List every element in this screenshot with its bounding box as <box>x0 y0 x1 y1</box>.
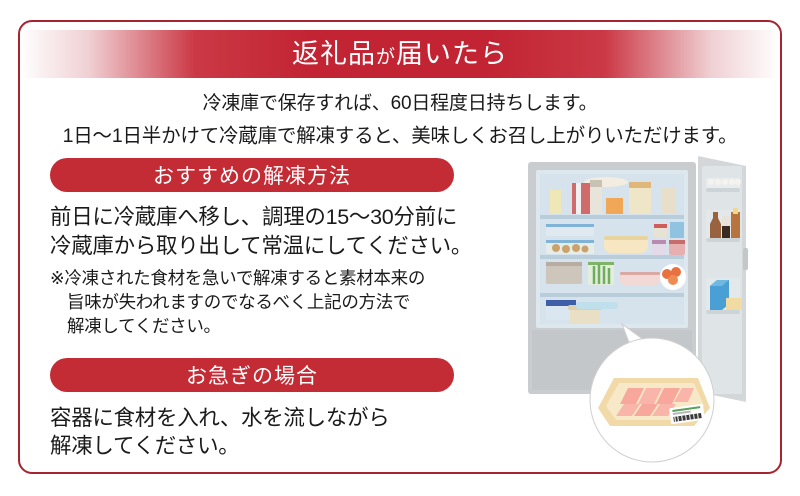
body-line: 容器に食材を入れ、水を流しながら <box>50 404 490 433</box>
intro-line-1: 冷凍庫で保存すれば、60日程度日持ちします。 <box>20 88 780 115</box>
section-header-label: おすすめの解凍方法 <box>153 160 351 190</box>
note-line: 解凍してください。 <box>50 314 490 338</box>
note-line: 旨味が失われますのでなるべく上記の方法で <box>50 290 490 314</box>
section-header-recommended-thawing: おすすめの解凍方法 <box>50 158 454 192</box>
meat-tray-callout <box>570 322 740 472</box>
section-header-label: お急ぎの場合 <box>186 360 318 390</box>
illustration-area <box>510 152 782 472</box>
page-title-particle: が <box>376 47 396 68</box>
body-line: 前日に冷蔵庫へ移し、調理の15～30分前に <box>50 203 490 232</box>
meat-tray-icon <box>598 378 710 426</box>
section-2-body: 容器に食材を入れ、水を流しながら 解凍してください。 <box>50 404 490 461</box>
intro-line-2: 1日～1日半かけて冷蔵庫で解凍すると、美味しくお召し上がりいただけます。 <box>20 119 780 148</box>
section-1-body: 前日に冷蔵庫へ移し、調理の15～30分前に 冷蔵庫から取り出して常温にしてくださ… <box>50 203 490 260</box>
page-title: 返礼品が届いたら <box>292 41 508 68</box>
body-line: 冷蔵庫から取り出して常温にしてください。 <box>50 232 490 261</box>
header-banner: 返礼品が届いたら <box>20 30 780 78</box>
instructions-column: おすすめの解凍方法 前日に冷蔵庫へ移し、調理の15～30分前に 冷蔵庫から取り出… <box>50 158 490 461</box>
page-title-part-2: 届いたら <box>396 39 508 69</box>
info-card: 返礼品が届いたら 冷凍庫で保存すれば、60日程度日持ちします。 1日～1日半かけ… <box>18 20 782 474</box>
section-1-note: ※冷凍された食材を急いで解凍すると素材本来の 旨味が失われますのでなるべく上記の… <box>50 266 490 338</box>
section-header-in-a-hurry: お急ぎの場合 <box>50 358 454 392</box>
note-line: ※冷凍された食材を急いで解凍すると素材本来の <box>50 266 490 290</box>
page-title-part-1: 返礼品 <box>292 39 376 69</box>
body-line: 解凍してください。 <box>50 432 490 461</box>
